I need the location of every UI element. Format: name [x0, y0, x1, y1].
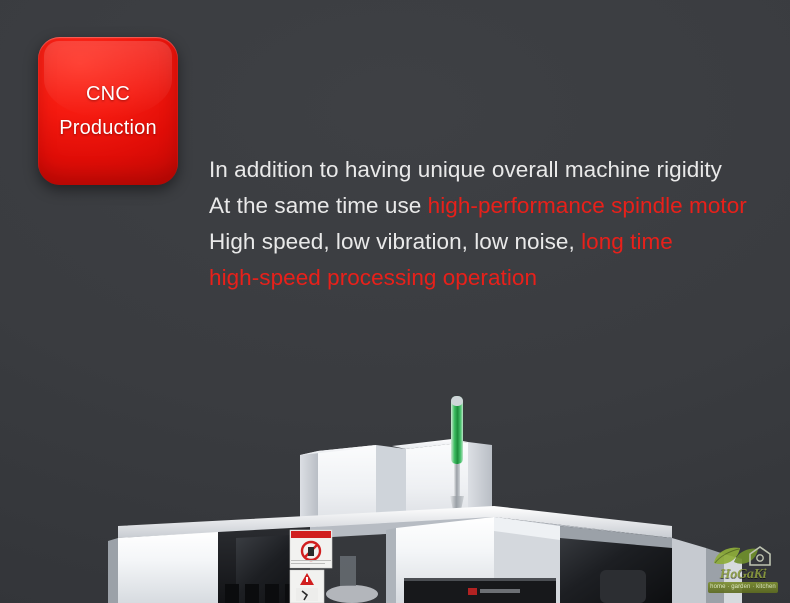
brand-logo: HoGaKi home · garden · kitchen [704, 543, 782, 595]
machine-control-panel [404, 578, 556, 603]
machine-left-cabinet [108, 532, 218, 603]
headline-segment-emphasis: high-performance spindle motor [428, 193, 747, 218]
machine-warning-labels [290, 530, 332, 603]
cnc-production-badge[interactable]: CNC Production [38, 37, 178, 185]
slide-canvas: CNC Production In addition to having uni… [0, 0, 790, 603]
headline-segment: High speed, low vibration, low noise, [209, 229, 581, 254]
badge-line-cnc: CNC [86, 84, 130, 104]
brand-tagline: home · garden · kitchen [708, 582, 778, 593]
headline-segment: At the same time use [209, 193, 428, 218]
headline-line-4: high-speed processing operation [209, 260, 784, 296]
badge-line-production: Production [59, 118, 157, 138]
headline-segment-emphasis: high-speed processing operation [209, 265, 537, 290]
headline-segment-emphasis: long time [581, 229, 673, 254]
brand-wordmark: HoGaKi [704, 568, 782, 582]
headline-line-1: In addition to having unique overall mac… [209, 152, 784, 188]
cnc-machine-image [0, 388, 790, 603]
headline-segment: In addition to having unique overall mac… [209, 157, 722, 182]
headline-line-2: At the same time use high-performance sp… [209, 188, 784, 224]
headline-line-3: High speed, low vibration, low noise, lo… [209, 224, 784, 260]
headline-text-block: In addition to having unique overall mac… [209, 152, 784, 296]
